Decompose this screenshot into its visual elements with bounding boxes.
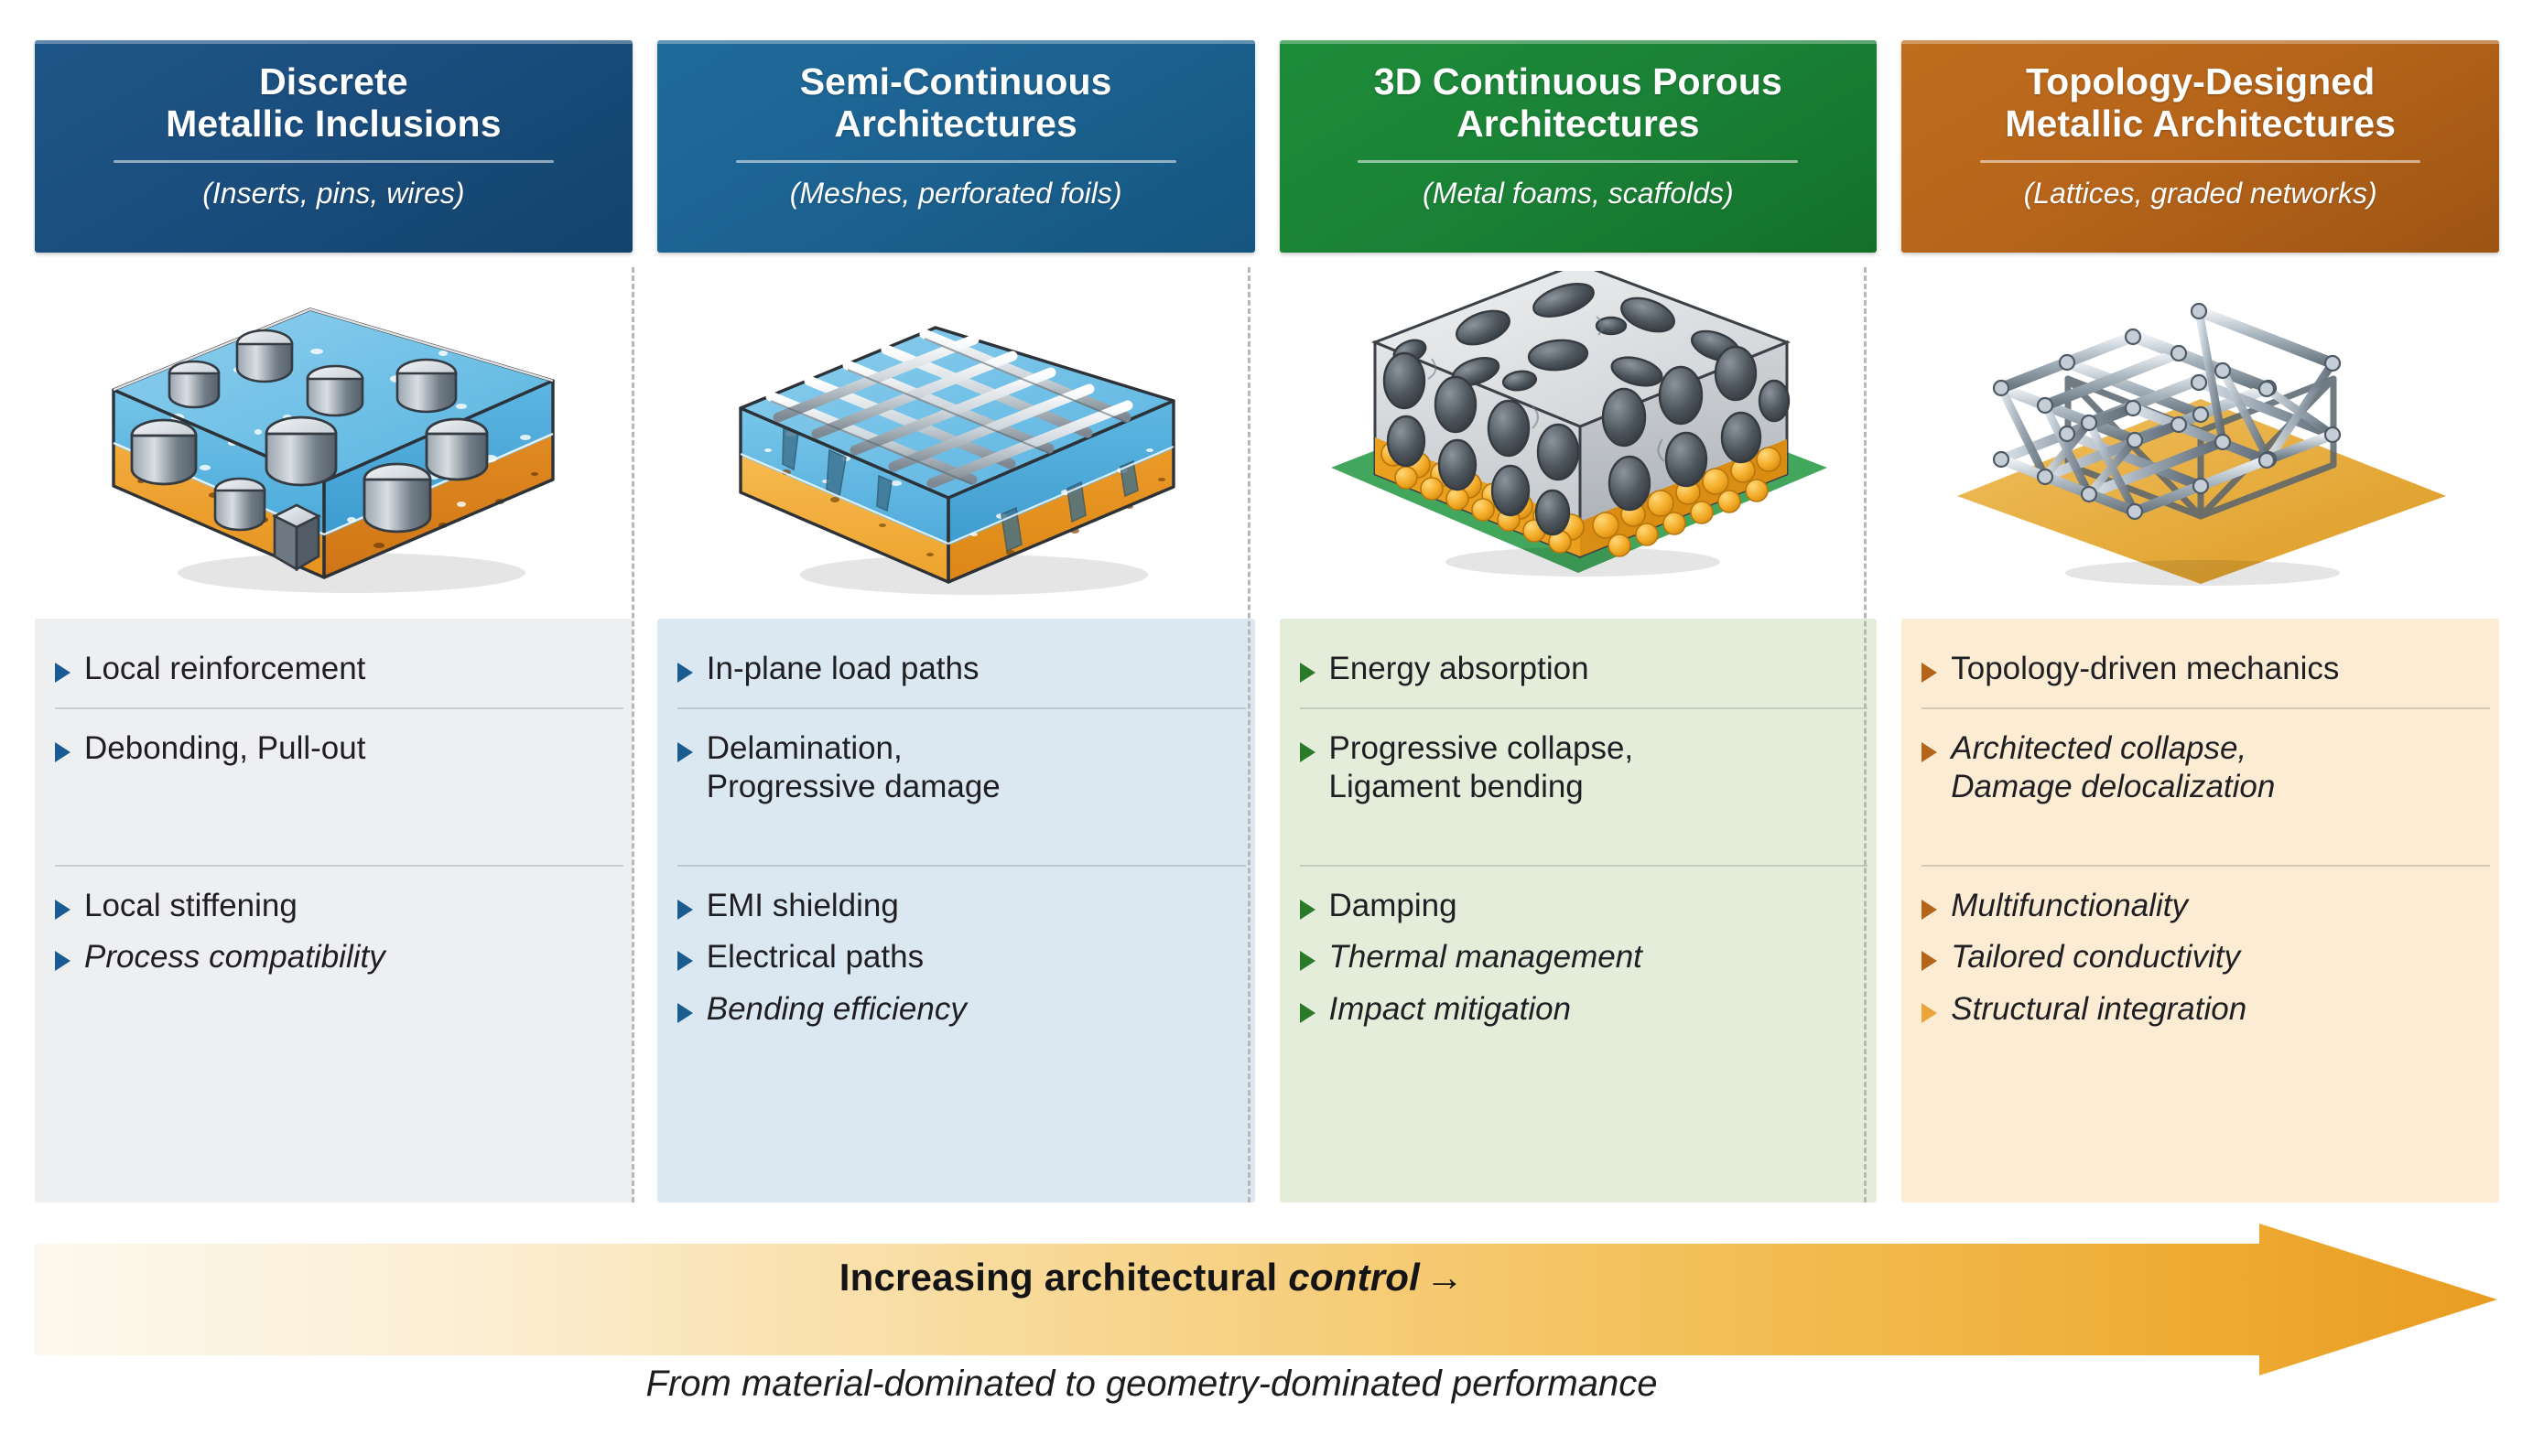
bullet-group: Energy absorption [1300,650,1868,709]
bullet-label: Progressive collapse, Ligament bending [1329,729,1634,807]
bullet-item: Topology-driven mechanics [1921,650,2490,689]
bullet-arrow-icon [1300,900,1315,920]
bullet-group: In-plane load paths [677,650,1246,709]
header-divider-rule [736,160,1176,163]
header-divider-rule [114,160,554,163]
bullet-arrow-icon [1921,663,1937,683]
bullet-label: Architected collapse, Damage delocalizat… [1951,729,2275,807]
column-title-3: 3D Continuous Porous Architectures [1374,60,1782,146]
column-subtitle-3: (Metal foams, scaffolds) [1423,176,1734,210]
illustration-wrap-1 [35,253,633,619]
bullet-label: Energy absorption [1329,650,1589,689]
progression-arrow-label: Increasing architectural control→ [35,1256,2268,1300]
bullet-item: Architected collapse, Damage delocalizat… [1921,729,2490,807]
bullet-item: Bending efficiency [677,990,1246,1030]
bullet-arrow-icon [1921,900,1937,920]
column-topology-designed-metallic-architectures: Topology-Designed Metallic Architectures… [1901,40,2499,1203]
column-title-1: Discrete Metallic Inclusions [166,60,501,146]
3d-continuous-porous-foam-block-illustration [1322,271,1835,609]
bullet-label: Local reinforcement [84,650,365,689]
bullet-arrow-icon [677,742,693,762]
bullet-group: Local reinforcement [55,650,623,709]
bullet-label: Process compatibility [84,938,385,977]
bullet-item: Electrical paths [677,938,1246,977]
column-discrete-metallic-inclusions: Discrete Metallic Inclusions (Inserts, p… [35,40,633,1203]
bullet-label: Debonding, Pull-out [84,729,365,769]
bullet-group: Local stiffening Process compatibility [55,887,623,996]
bullet-arrow-icon [677,900,693,920]
bullet-group: Multifunctionality Tailored conductivity… [1921,887,2490,1048]
progression-arrow-band [35,1224,2497,1375]
bullet-arrow-icon [55,900,70,920]
bullet-label: Tailored conductivity [1951,938,2240,977]
bullet-arrow-icon [677,663,693,683]
column-title-line1: 3D Continuous Porous [1374,60,1782,102]
bullet-arrow-icon [1921,1003,1937,1023]
bullet-item: Local reinforcement [55,650,623,689]
column-separator-1 [632,267,634,1203]
right-arrow-icon: → [1420,1256,1464,1299]
column-header-1: Discrete Metallic Inclusions (Inserts, p… [35,40,633,253]
discrete-metallic-inclusions-block-illustration [77,271,590,609]
architecture-columns: Discrete Metallic Inclusions (Inserts, p… [35,40,2499,1203]
illustration-wrap-3 [1280,253,1878,619]
bullets-panel-1: Local reinforcement Debonding, Pull-out … [35,619,633,1203]
semi-continuous-mesh-block-illustration [699,271,1212,609]
bullets-panel-4: Topology-driven mechanics Architected co… [1901,619,2499,1203]
column-semi-continuous-architectures: Semi-Continuous Architectures (Meshes, p… [657,40,1255,1203]
illustration-wrap-4 [1901,253,2499,619]
bullet-label: Local stiffening [84,887,298,926]
bullet-item: Impact mitigation [1300,990,1868,1030]
bullet-group: Progressive collapse, Ligament bending [1300,729,1868,867]
bullet-arrow-icon [677,951,693,971]
bullet-label: Topology-driven mechanics [1951,650,2339,689]
column-title-4: Topology-Designed Metallic Architectures [2005,60,2396,146]
column-title-2: Semi-Continuous Architectures [800,60,1112,146]
column-subtitle-4: (Lattices, graded networks) [2024,176,2377,210]
bullet-item: EMI shielding [677,887,1246,926]
column-separator-2 [1248,267,1250,1203]
bullet-group: Topology-driven mechanics [1921,650,2490,709]
bullet-item: Thermal management [1300,938,1868,977]
bullet-label: Impact mitigation [1329,990,1572,1030]
progression-arrow-shape [35,1224,2497,1375]
column-header-2: Semi-Continuous Architectures (Meshes, p… [657,40,1255,253]
bullet-group: Architected collapse, Damage delocalizat… [1921,729,2490,867]
bullet-group: Debonding, Pull-out [55,729,623,867]
bullet-item: Process compatibility [55,938,623,977]
bullet-arrow-icon [1921,742,1937,762]
arrow-polygon [35,1224,2497,1375]
bullet-item: In-plane load paths [677,650,1246,689]
bullet-label: In-plane load paths [707,650,980,689]
bullet-arrow-icon [1921,951,1937,971]
bullet-item: Energy absorption [1300,650,1868,689]
column-subtitle-1: (Inserts, pins, wires) [202,176,464,210]
bullet-arrow-icon [55,951,70,971]
bullets-panel-3: Energy absorption Progressive collapse, … [1280,619,1878,1203]
bullet-group: EMI shielding Electrical paths Bending e… [677,887,1246,1048]
column-title-line2: Architectures [1456,102,1700,145]
metallic-architectures-figure: Discrete Metallic Inclusions (Inserts, p… [0,0,2533,1456]
column-title-line1: Topology-Designed [2026,60,2375,102]
bullet-arrow-icon [55,742,70,762]
bullet-label: Multifunctionality [1951,887,2188,926]
column-title-line1: Discrete [259,60,408,102]
topology-designed-lattice-illustration [1944,271,2457,609]
bullet-item: Structural integration [1921,990,2490,1030]
bullet-group: Delamination, Progressive damage [677,729,1246,867]
bullet-label: Delamination, Progressive damage [707,729,1001,807]
bullet-item: Debonding, Pull-out [55,729,623,769]
bullet-item: Multifunctionality [1921,887,2490,926]
column-3d-continuous-porous-architectures: 3D Continuous Porous Architectures (Meta… [1280,40,1878,1203]
header-divider-rule [1980,160,2420,163]
progression-caption: From material-dominated to geometry-domi… [35,1364,2268,1405]
bullet-item: Delamination, Progressive damage [677,729,1246,807]
bullet-arrow-icon [1300,663,1315,683]
bullet-arrow-icon [55,663,70,683]
bullet-arrow-icon [1300,951,1315,971]
bullet-item: Local stiffening [55,887,623,926]
bullet-item: Progressive collapse, Ligament bending [1300,729,1868,807]
bullet-item: Tailored conductivity [1921,938,2490,977]
column-header-3: 3D Continuous Porous Architectures (Meta… [1280,40,1878,253]
illustration-wrap-2 [657,253,1255,619]
header-divider-rule [1358,160,1798,163]
column-subtitle-2: (Meshes, perforated foils) [790,176,1122,210]
bullet-arrow-icon [1300,742,1315,762]
bullet-label: Thermal management [1329,938,1642,977]
column-title-line2: Metallic Architectures [2005,102,2396,145]
column-separator-3 [1864,267,1867,1203]
bullet-arrow-icon [677,1003,693,1023]
bullet-label: EMI shielding [707,887,899,926]
column-title-line1: Semi-Continuous [800,60,1112,102]
column-title-line2: Architectures [834,102,1077,145]
bullet-label: Bending efficiency [707,990,967,1030]
column-title-line2: Metallic Inclusions [166,102,501,145]
bullet-group: Damping Thermal management Impact mitiga… [1300,887,1868,1048]
bullet-label: Damping [1329,887,1457,926]
column-header-4: Topology-Designed Metallic Architectures… [1901,40,2499,253]
bullet-item: Damping [1300,887,1868,926]
bullet-label: Structural integration [1951,990,2246,1030]
bullet-arrow-icon [1300,1003,1315,1023]
bullet-label: Electrical paths [707,938,924,977]
bullets-panel-2: In-plane load paths Delamination, Progre… [657,619,1255,1203]
progression-label-bold: Increasing architectural [839,1256,1278,1299]
progression-label-italic: control [1288,1256,1420,1299]
